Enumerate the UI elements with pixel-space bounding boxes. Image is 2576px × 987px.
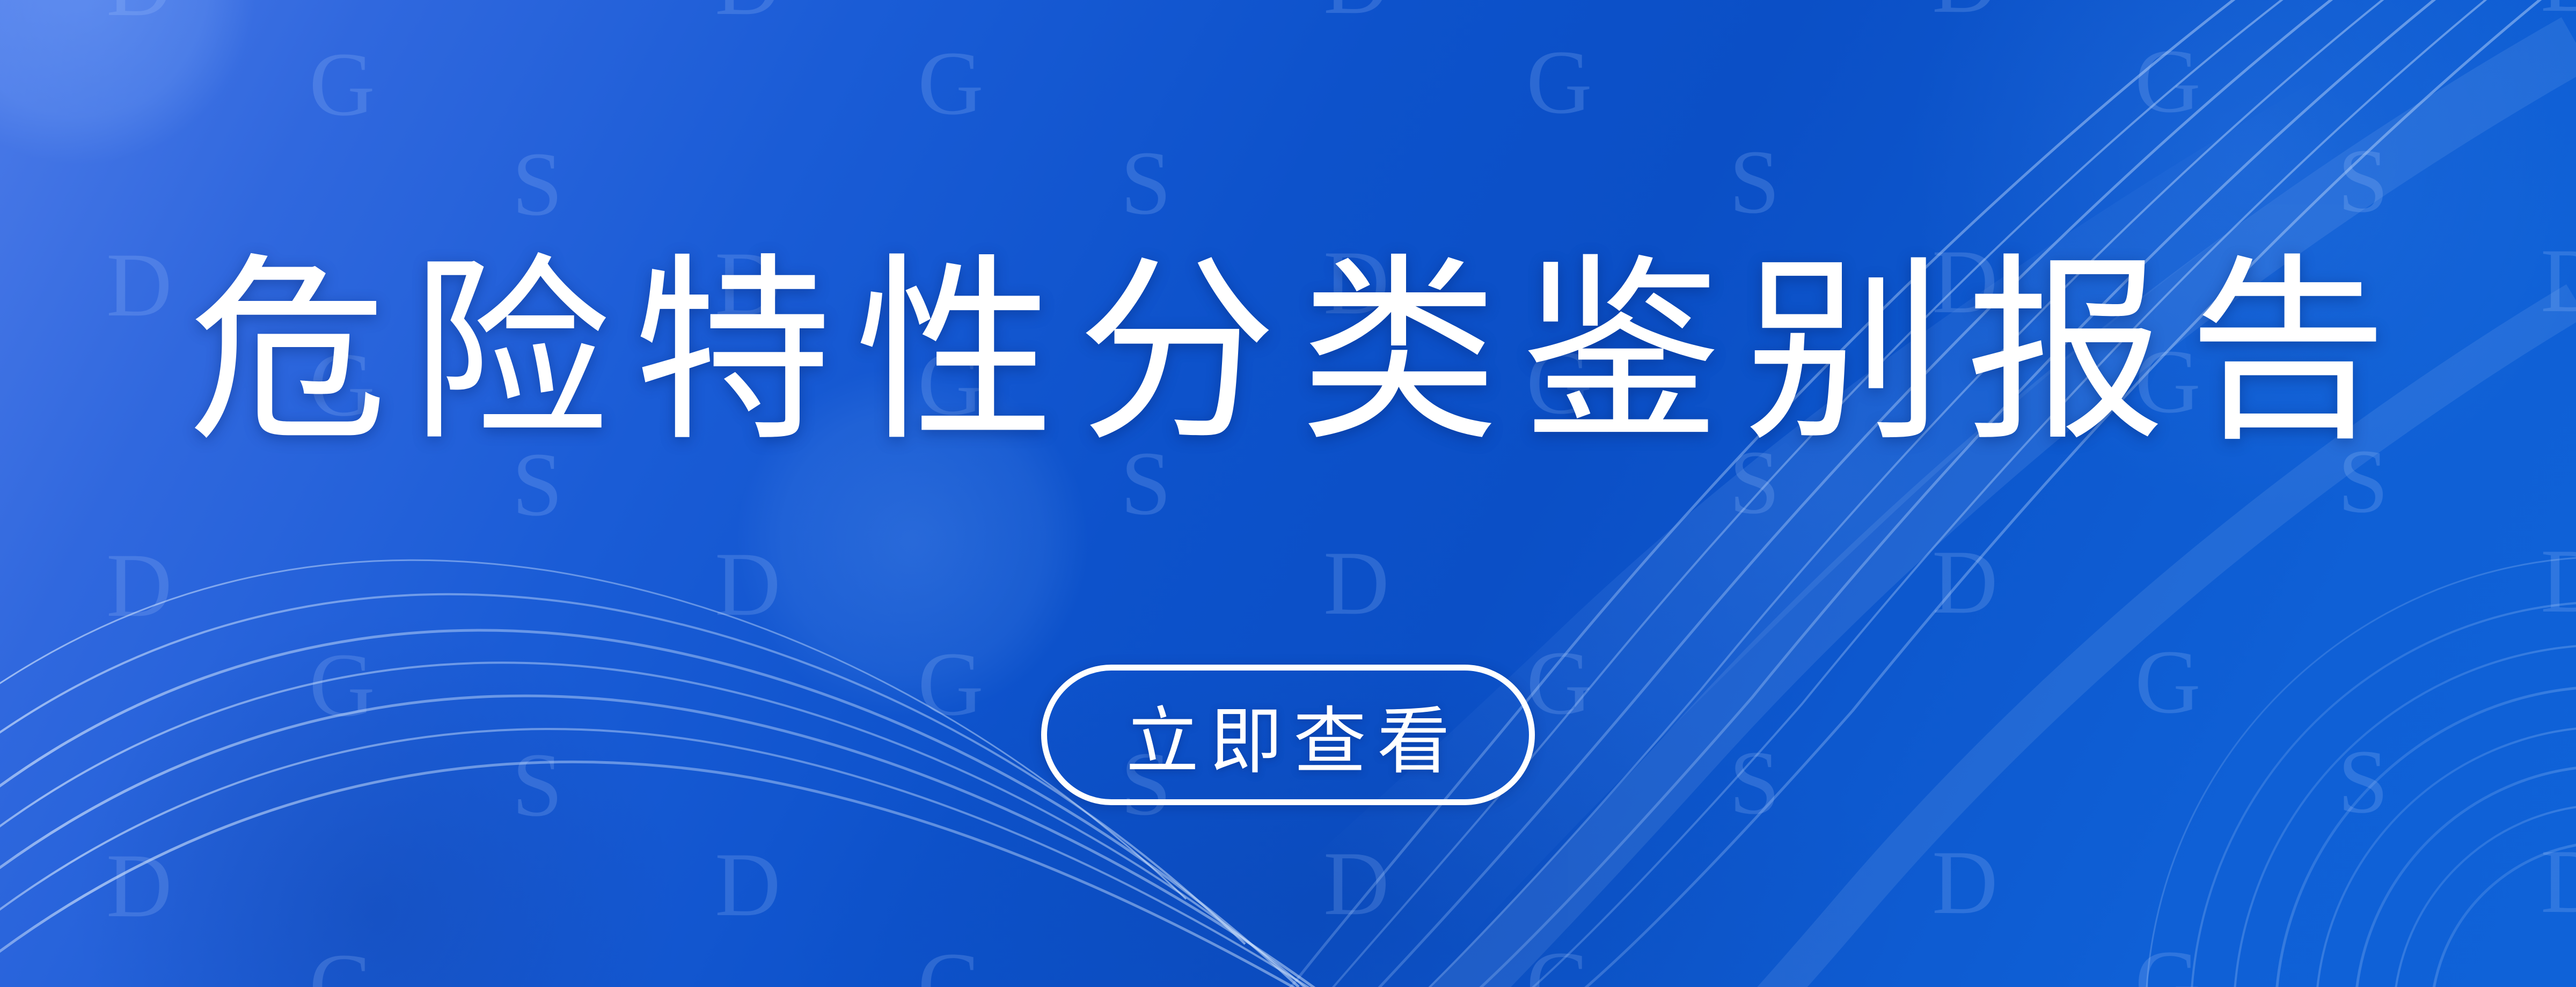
view-now-button[interactable]: 立即查看 <box>1041 665 1535 805</box>
promo-banner: DGSDGSDGSDGSDSDGSDGSDGSDGSDSDGSDGSDGSDGS… <box>0 0 2576 987</box>
banner-content: 危险特性分类鉴别报告 立即查看 <box>0 0 2576 987</box>
page-title: 危险特性分类鉴别报告 <box>166 252 2410 452</box>
view-now-button-label: 立即查看 <box>1115 682 1461 788</box>
